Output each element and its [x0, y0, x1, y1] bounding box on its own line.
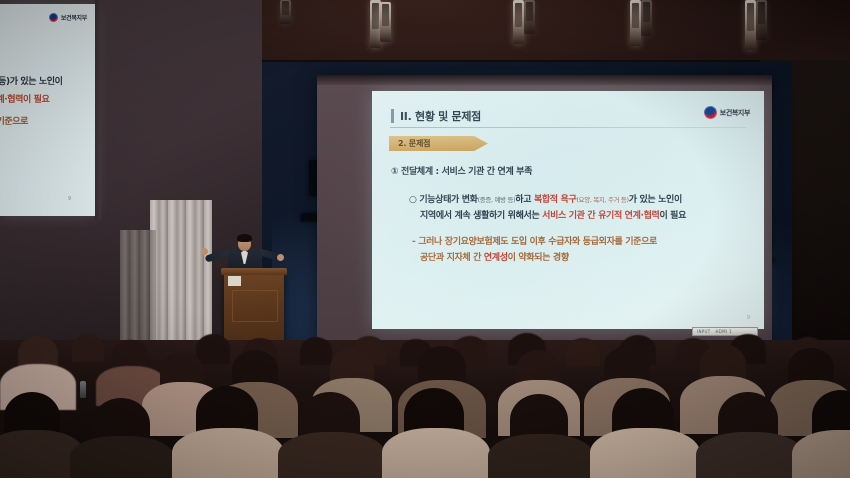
- ministry-logo: 보건복지부: [704, 106, 750, 119]
- ceiling-spotlight: [524, 0, 535, 34]
- presentation-slide: II. 현황 및 문제점 보건복지부 2. 문제점 ① 전달체계 : 서비스 기…: [372, 91, 764, 329]
- main-osd-label: INPUT: [697, 329, 710, 334]
- audience-member: [196, 334, 230, 364]
- audience-member: [300, 337, 332, 365]
- audience-member: [696, 432, 804, 478]
- audience-member: [590, 428, 700, 478]
- bullet-1-seg-1: 기능상태가 변화: [419, 195, 477, 205]
- main-projection-screen-frame: II. 현황 및 문제점 보건복지부 2. 문제점 ① 전달체계 : 서비스 기…: [317, 75, 772, 343]
- left-screen-logo-text: 보건복지부: [61, 13, 87, 22]
- bullet-1-line-2-a: 지역에서 계속 생활하기 위해서는: [420, 211, 542, 221]
- speaker-right-hand: [277, 254, 284, 261]
- taegeuk-icon: [48, 12, 59, 23]
- screen-top-shadow: [317, 75, 772, 85]
- ceiling-spotlight: [745, 0, 756, 50]
- audience-member: [278, 432, 386, 478]
- left-screen-page-number: 9: [68, 196, 71, 202]
- podium-top-surface: [221, 268, 287, 275]
- audience-member: [488, 434, 594, 478]
- audience-member: [70, 436, 174, 478]
- left-screen-logo: 보건복지부: [49, 13, 87, 22]
- audience-member: [172, 428, 284, 478]
- ceiling-spotlight: [756, 0, 767, 40]
- slide-title-underline: [390, 127, 746, 128]
- slide-bullet-2-line-1: - 그러나 장기요양보험제도 도입 이후 수급자와 등급외자를 기준으로: [412, 234, 657, 247]
- slide-bullet-1-line-1: ○ 기능상태가 변화(중증, 예방 등)하고 복합적 욕구(요양, 복지, 주거…: [409, 192, 682, 205]
- slide-section-tab-label: 2. 문제점: [398, 138, 430, 149]
- slide-page-number: 9: [747, 315, 750, 321]
- bullet-1-marker: ○: [409, 195, 417, 205]
- ceiling-spotlight: [280, 0, 291, 24]
- podium-name-plate: [228, 276, 241, 286]
- ceiling-spotlight: [380, 2, 391, 42]
- water-bottle: [80, 381, 86, 398]
- slide-title: II. 현황 및 문제점: [400, 108, 481, 124]
- ceiling-spotlight: [641, 0, 652, 36]
- title-accent-bar: [391, 109, 394, 123]
- audience-member: [382, 428, 490, 478]
- bullet-2-line-1-text: 그러나 장기요양보험제도 도입 이후 수급자와 등급외자를 기준으로: [418, 237, 657, 247]
- main-osd-value: HDMI 1: [715, 329, 731, 334]
- bullet-1-seg-4: 가 있는 노인이: [629, 195, 682, 205]
- slide-heading: ① 전달체계 : 서비스 기관 간 연계 부족: [391, 164, 532, 177]
- left-screen-text-line-3: 자를 기준으로: [0, 114, 28, 127]
- bullet-1-line-2-b: 서비스 기관 간 유기적 연계·협력: [542, 211, 659, 221]
- bullet-2-line-2-c: 이 약화되는 경향: [508, 253, 569, 263]
- ceiling-spotlight: [630, 0, 641, 46]
- bullet-2-line-2-a: 공단과 지자체 간: [420, 253, 484, 263]
- audience-member: [72, 334, 104, 362]
- taegeuk-icon: [702, 104, 718, 120]
- slide-bullet-2-line-2: 공단과 지자체 간 연계성이 약화되는 경향: [420, 250, 569, 263]
- audience-member: [566, 338, 600, 366]
- bullet-1-seg-1-paren: (중증, 예방 등): [478, 196, 516, 204]
- left-screen-text-line-1: 지, 주거 등)가 있는 노인이: [0, 74, 62, 87]
- slide-bullet-1-line-2: 지역에서 계속 생활하기 위해서는 서비스 기관 간 유기적 연계·협력이 필요: [420, 208, 686, 221]
- left-screen-text-line-2: 기적 연계·협력이 필요: [0, 92, 49, 105]
- bullet-1-line-2-c: 이 필요: [659, 211, 686, 221]
- ceiling-spotlight: [513, 0, 524, 44]
- slide-section-tab: 2. 문제점: [389, 136, 488, 151]
- left-screen-edge: [95, 0, 101, 220]
- speaker-hair: [237, 234, 252, 242]
- bullet-1-seg-3-paren: (요양, 복지, 주거 등): [576, 196, 628, 204]
- slide-title-group: II. 현황 및 문제점: [391, 108, 481, 124]
- left-projection-screen: 보건복지부 지, 주거 등)가 있는 노인이 기적 연계·협력이 필요 자를 기…: [0, 4, 95, 216]
- ministry-logo-text: 보건복지부: [720, 108, 750, 118]
- podium-front-panel: [232, 290, 278, 322]
- speaker-left-hand: [201, 248, 208, 255]
- bullet-2-line-2-b: 연계성: [484, 253, 508, 263]
- bullet-1-seg-3: 복합적 욕구: [534, 195, 576, 205]
- bullet-1-seg-2: 하고: [515, 195, 534, 205]
- speaker-podium: [224, 272, 284, 344]
- conference-photo-scene: 노 회의전 일시 소 보건복지부 지, 주거 등)가 있는 노인이 기적 연계·…: [0, 0, 850, 478]
